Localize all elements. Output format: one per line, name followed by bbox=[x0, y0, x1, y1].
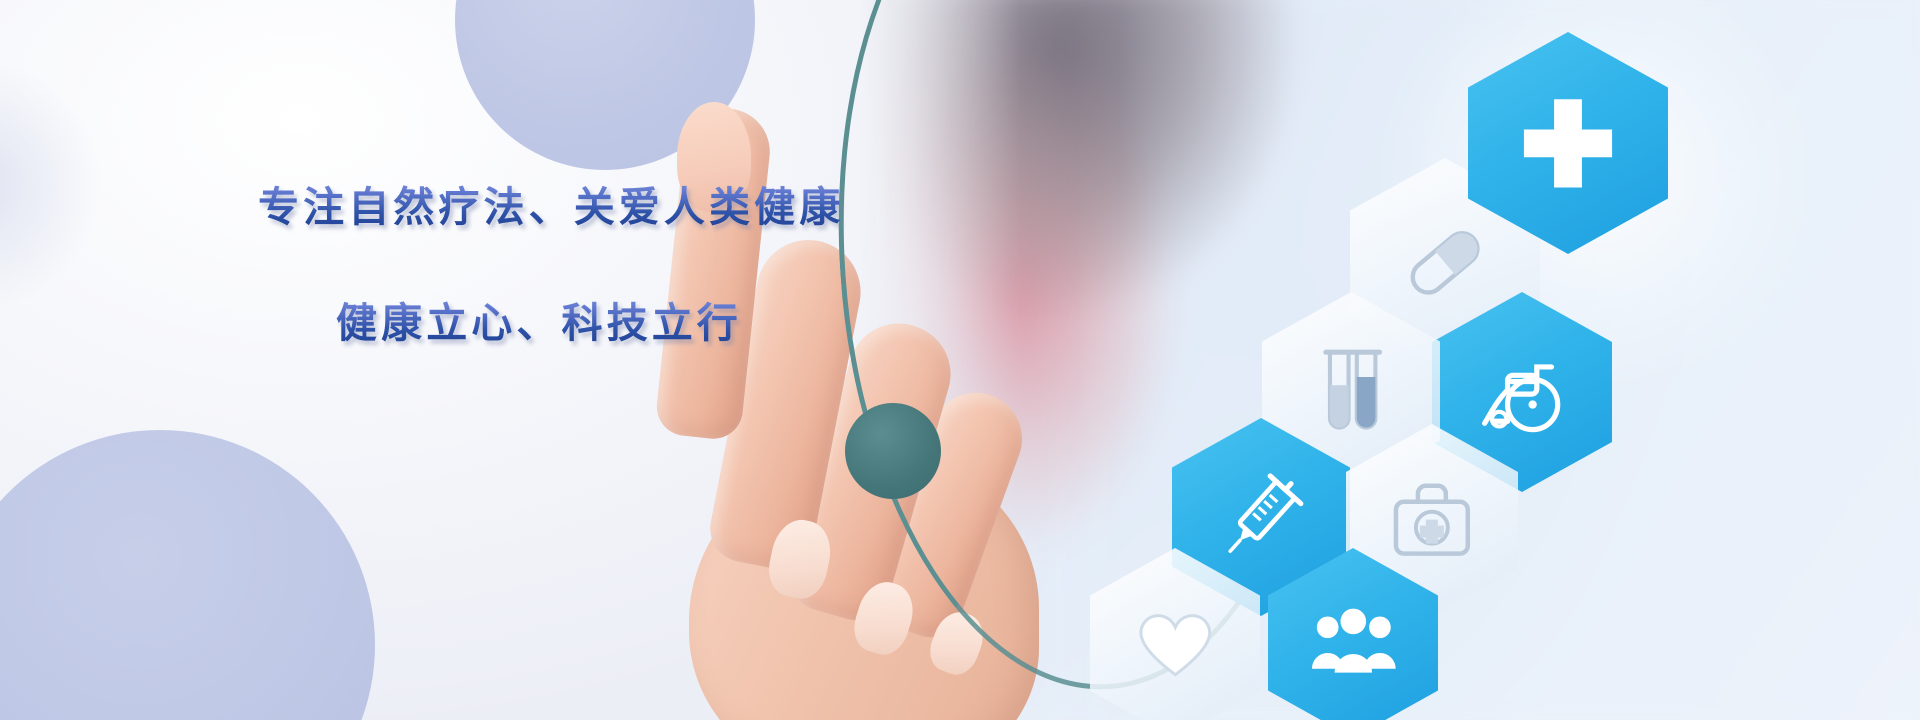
headline-block: 专注自然疗法、关爱人类健康 健康立心、科技立行 bbox=[258, 180, 844, 350]
test-tubes-icon bbox=[1299, 334, 1402, 449]
health-banner: 专注自然疗法、关爱人类健康 健康立心、科技立行 bbox=[0, 0, 1920, 720]
capsule-pill-icon bbox=[1390, 202, 1500, 324]
family-group-icon bbox=[1304, 588, 1403, 698]
medical-cross-icon bbox=[1510, 79, 1626, 208]
medical-bag-icon bbox=[1382, 464, 1482, 575]
headline-line-2: 健康立心、科技立行 bbox=[336, 296, 844, 350]
heart-icon bbox=[1126, 588, 1225, 698]
syringe-icon bbox=[1209, 460, 1312, 575]
decorative-circle-faint bbox=[0, 60, 100, 310]
headline-line-1: 专注自然疗法、关爱人类健康 bbox=[258, 180, 844, 234]
decorative-circle-bottom bbox=[0, 430, 375, 720]
wheelchair-icon bbox=[1470, 334, 1574, 450]
teal-knob-circle bbox=[845, 403, 941, 499]
